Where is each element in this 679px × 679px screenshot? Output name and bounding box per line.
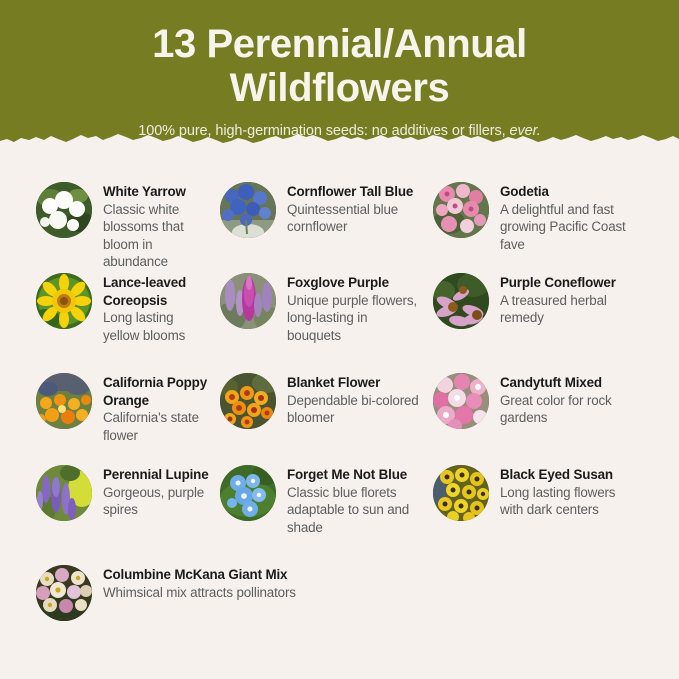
godetia-photo-icon xyxy=(433,182,489,238)
item-title: White Yarrow xyxy=(103,183,210,201)
torn-paper-edge-icon xyxy=(0,127,679,152)
page-title-line-1: 13 Perennial/Annual xyxy=(152,22,527,66)
list-item[interactable]: Perennial Lupine Gorgeous, purple spires xyxy=(0,465,210,536)
item-description: Whimsical mix attracts pollinators xyxy=(103,584,296,602)
list-item[interactable]: Lance-leaved Coreopsis Long lasting yell… xyxy=(0,273,210,344)
item-description: A treasured herbal remedy xyxy=(500,292,640,327)
item-description: A delightful and fast growing Pacific Co… xyxy=(500,201,640,254)
blanket-flower-photo-icon xyxy=(220,373,276,429)
page-title: 13 Perennial/AnnualWildflowers xyxy=(152,22,527,110)
list-row: California Poppy Orange California's sta… xyxy=(0,373,679,444)
item-description: Dependable bi-colored bloomer xyxy=(287,392,422,427)
item-description: Quintessential blue cornflower xyxy=(287,201,422,236)
page-title-line-2: Wildflowers xyxy=(230,66,450,110)
item-title: Blanket Flower xyxy=(287,374,422,392)
item-title: Columbine McKana Giant Mix xyxy=(103,566,296,584)
cornflower-tall-blue-photo-icon xyxy=(220,182,276,238)
item-title: Lance-leaved Coreopsis xyxy=(103,274,210,309)
list-row: Lance-leaved Coreopsis Long lasting yell… xyxy=(0,273,679,344)
list-item[interactable]: California Poppy Orange California's sta… xyxy=(0,373,210,444)
list-row: Columbine McKana Giant Mix Whimsical mix… xyxy=(0,565,679,621)
list-item[interactable]: Candytuft Mixed Great color for rock gar… xyxy=(422,373,679,444)
columbine-mckana-giant-mix-photo-icon xyxy=(36,565,92,621)
item-description: Classic white blossoms that bloom in abu… xyxy=(103,201,210,271)
list-item[interactable]: Cornflower Tall Blue Quintessential blue… xyxy=(210,182,422,271)
item-description: California's state flower xyxy=(103,409,210,444)
forget-me-not-blue-photo-icon xyxy=(220,465,276,521)
item-description: Gorgeous, purple spires xyxy=(103,484,210,519)
item-description: Unique purple flowers, long-lasting in b… xyxy=(287,292,422,345)
infographic-page: 13 Perennial/AnnualWildflowers 100% pure… xyxy=(0,0,679,679)
perennial-lupine-photo-icon xyxy=(36,465,92,521)
list-item[interactable]: Foxglove Purple Unique purple flowers, l… xyxy=(210,273,422,344)
california-poppy-orange-photo-icon xyxy=(36,373,92,429)
item-title: California Poppy Orange xyxy=(103,374,210,409)
list-item[interactable]: Columbine McKana Giant Mix Whimsical mix… xyxy=(0,565,520,621)
list-item[interactable]: Forget Me Not Blue Classic blue florets … xyxy=(210,465,422,536)
item-title: Godetia xyxy=(500,183,640,201)
black-eyed-susan-photo-icon xyxy=(433,465,489,521)
list-item[interactable]: Godetia A delightful and fast growing Pa… xyxy=(422,182,679,271)
wildflower-list: White Yarrow Classic white blossoms that… xyxy=(0,160,679,679)
item-title: Foxglove Purple xyxy=(287,274,422,292)
purple-coneflower-photo-icon xyxy=(433,273,489,329)
white-yarrow-photo-icon xyxy=(36,182,92,238)
item-title: Black Eyed Susan xyxy=(500,466,640,484)
item-description: Long lasting flowers with dark centers xyxy=(500,484,640,519)
item-title: Purple Coneflower xyxy=(500,274,640,292)
list-row: White Yarrow Classic white blossoms that… xyxy=(0,182,679,271)
foxglove-purple-photo-icon xyxy=(220,273,276,329)
list-item[interactable]: Purple Coneflower A treasured herbal rem… xyxy=(422,273,679,344)
item-description: Long lasting yellow blooms xyxy=(103,309,210,344)
item-description: Classic blue florets adaptable to sun an… xyxy=(287,484,422,537)
candytuft-mixed-photo-icon xyxy=(433,373,489,429)
item-description: Great color for rock gardens xyxy=(500,392,640,427)
item-title: Forget Me Not Blue xyxy=(287,466,422,484)
item-title: Candytuft Mixed xyxy=(500,374,640,392)
lance-leaved-coreopsis-photo-icon xyxy=(36,273,92,329)
item-title: Cornflower Tall Blue xyxy=(287,183,422,201)
list-row: Perennial Lupine Gorgeous, purple spires… xyxy=(0,465,679,536)
header-banner: 13 Perennial/AnnualWildflowers 100% pure… xyxy=(0,0,679,152)
list-item[interactable]: White Yarrow Classic white blossoms that… xyxy=(0,182,210,271)
list-item[interactable]: Black Eyed Susan Long lasting flowers wi… xyxy=(422,465,679,536)
item-title: Perennial Lupine xyxy=(103,466,210,484)
list-item[interactable]: Blanket Flower Dependable bi-colored blo… xyxy=(210,373,422,444)
